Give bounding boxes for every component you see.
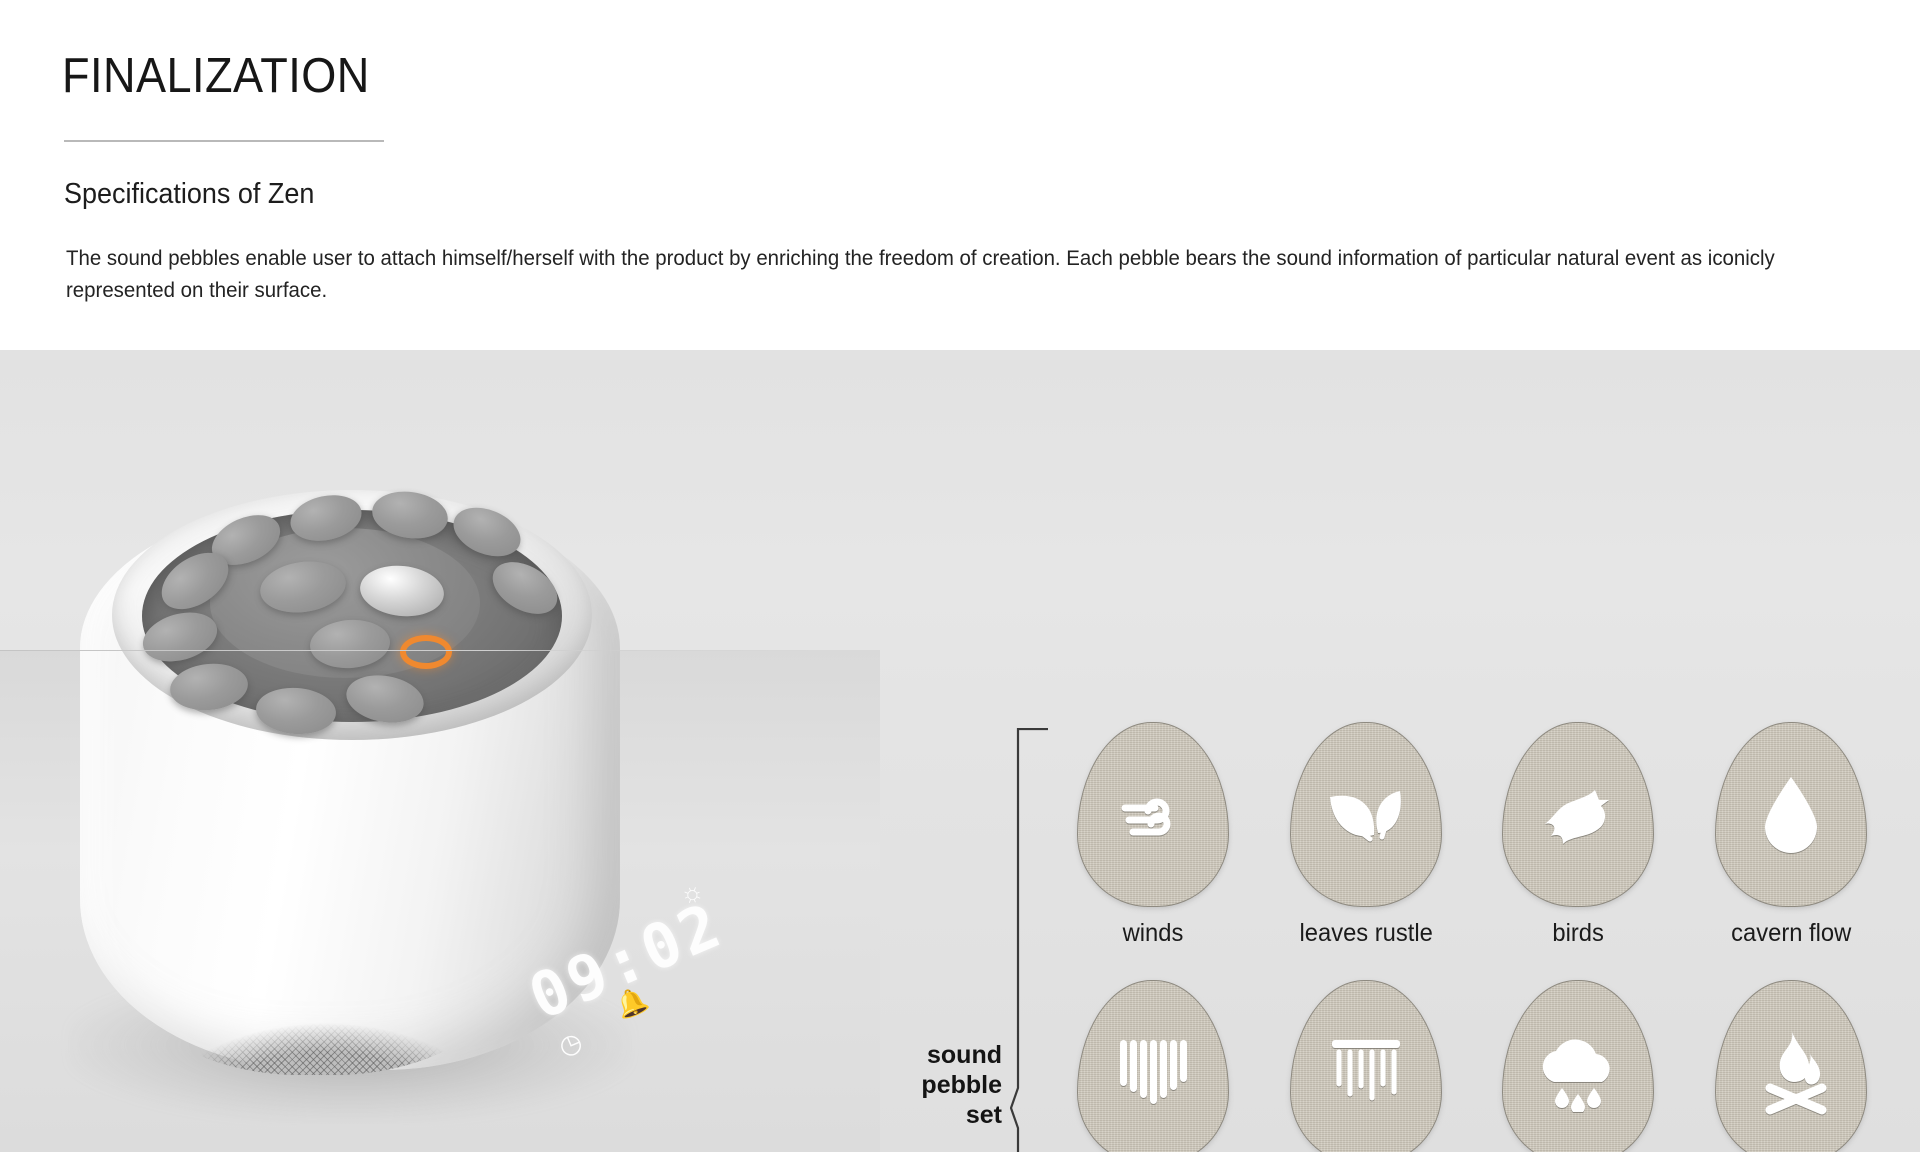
pebble-winds[interactable] (1077, 722, 1229, 907)
pebble-cell-rain[interactable]: rain (1477, 980, 1680, 1152)
leaves-icon (1324, 781, 1408, 849)
set-bracket (1010, 728, 1050, 1152)
page-title: FINALIZATION (62, 48, 370, 104)
pebble-label: birds (1553, 919, 1604, 948)
pebble-cell-camp-fire[interactable]: camp fire (1690, 980, 1893, 1152)
product-scene: 09:02 ☼ ◖ 🔔 ◷ sound pebble set (0, 350, 1920, 1152)
pebble-pan-flute[interactable] (1077, 980, 1229, 1152)
pebble-label: cavern flow (1731, 919, 1851, 948)
wind-chimes-icon (1328, 1034, 1404, 1112)
droplet-icon (1761, 775, 1821, 855)
pebble-birds[interactable] (1502, 722, 1654, 907)
pebble-cell-cavern-flow[interactable]: cavern flow (1690, 722, 1893, 976)
sound-pebble-grid: winds leaves rustle (1052, 722, 1892, 1152)
pebble-label: leaves rustle (1299, 919, 1432, 948)
bracket-label-line3: set (872, 1100, 1002, 1130)
title-divider (64, 140, 384, 142)
bracket-label-line2: pebble (872, 1070, 1002, 1100)
pebble-cell-wind-chimes[interactable]: wind chimes (1265, 980, 1468, 1152)
speaker-mesh (102, 840, 532, 1075)
pan-flute-icon (1116, 1034, 1190, 1112)
bird-icon (1537, 782, 1619, 848)
bracket-label-line1: sound (872, 1040, 1002, 1070)
pebble-rain[interactable] (1502, 980, 1654, 1152)
pebble-cavern-flow[interactable] (1715, 722, 1867, 907)
bracket-label: sound pebble set (872, 1040, 1002, 1130)
pebble-cell-pan-flute[interactable]: pan flute (1052, 980, 1255, 1152)
pebble-cell-birds[interactable]: birds (1477, 722, 1680, 976)
description-paragraph: The sound pebbles enable user to attach … (66, 242, 1795, 306)
zen-device-render: 09:02 ☼ ◖ 🔔 ◷ (60, 370, 680, 1130)
slide-header: FINALIZATION Specifications of Zen The s… (0, 0, 1920, 350)
active-pebble-ring (400, 635, 452, 669)
pebble-cell-leaves-rustle[interactable]: leaves rustle (1265, 722, 1468, 976)
section-subtitle: Specifications of Zen (64, 178, 314, 211)
pebble-label: winds (1123, 919, 1184, 948)
rain-cloud-icon (1534, 1034, 1622, 1112)
wind-icon (1113, 784, 1193, 846)
pebble-wind-chimes[interactable] (1290, 980, 1442, 1152)
campfire-icon (1748, 1030, 1834, 1116)
pebble-leaves-rustle[interactable] (1290, 722, 1442, 907)
pebble-camp-fire[interactable] (1715, 980, 1867, 1152)
clock-icon: ◷ (555, 1027, 586, 1060)
pebble-cell-winds[interactable]: winds (1052, 722, 1255, 976)
presentation-slide: FINALIZATION Specifications of Zen The s… (0, 0, 1920, 1152)
speaker-mesh-texture (102, 840, 532, 1075)
